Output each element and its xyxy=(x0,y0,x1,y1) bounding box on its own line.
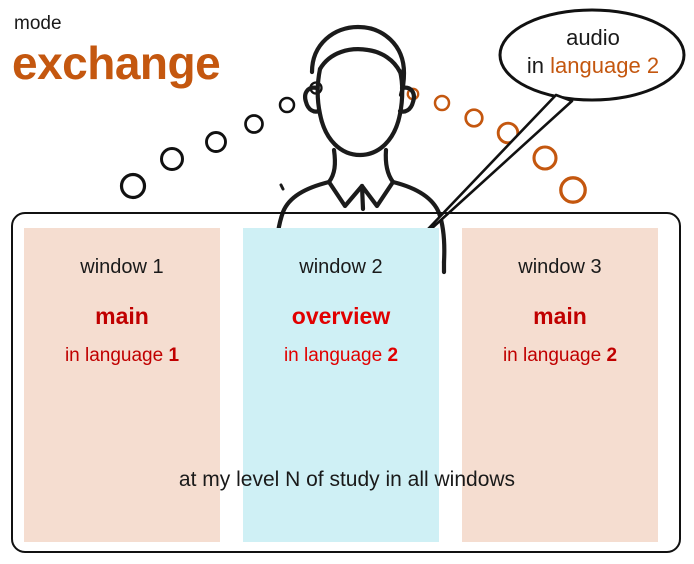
window-2-language-value: 2 xyxy=(387,345,398,366)
window-3-title: window 3 xyxy=(462,256,658,278)
diagram-canvas: mode exchange xyxy=(0,0,694,564)
speech-bubble-text: audio in language 2 xyxy=(500,24,686,80)
speech-bubble-line-2-prefix: in xyxy=(527,53,544,78)
window-1-language-label: in language 1 xyxy=(24,346,220,367)
window-2-language-prefix: in language xyxy=(284,345,382,366)
window-2-title: window 2 xyxy=(243,256,439,278)
speech-bubble-line-2: in language 2 xyxy=(500,52,686,80)
speech-bubble-line-1: audio xyxy=(500,24,686,52)
window-3-column[interactable]: window 3 main in language 2 xyxy=(462,228,658,542)
window-1-language-value: 1 xyxy=(168,345,179,366)
window-3-language-label: in language 2 xyxy=(462,346,658,367)
window-1-main-label: main xyxy=(24,304,220,329)
black-thought-circles-icon xyxy=(122,83,322,198)
window-1-language-prefix: in language xyxy=(65,345,163,366)
window-2-column[interactable]: window 2 overview in language 2 xyxy=(243,228,439,542)
mode-value-title: exchange xyxy=(12,40,220,86)
window-2-language-label: in language 2 xyxy=(243,346,439,367)
panel-footnote: at my level N of study in all windows xyxy=(0,468,694,492)
window-3-main-label: main xyxy=(462,304,658,329)
window-1-title: window 1 xyxy=(24,256,220,278)
window-1-column[interactable]: window 1 main in language 1 xyxy=(24,228,220,542)
mode-label: mode xyxy=(14,14,62,33)
window-2-main-label: overview xyxy=(243,304,439,329)
windows-columns: window 1 main in language 1 window 2 ove… xyxy=(24,228,670,542)
speech-bubble-line-2-accent: language 2 xyxy=(550,53,659,78)
window-3-language-prefix: in language xyxy=(503,345,601,366)
window-3-language-value: 2 xyxy=(606,345,617,366)
orange-thought-circles-icon xyxy=(408,89,585,202)
